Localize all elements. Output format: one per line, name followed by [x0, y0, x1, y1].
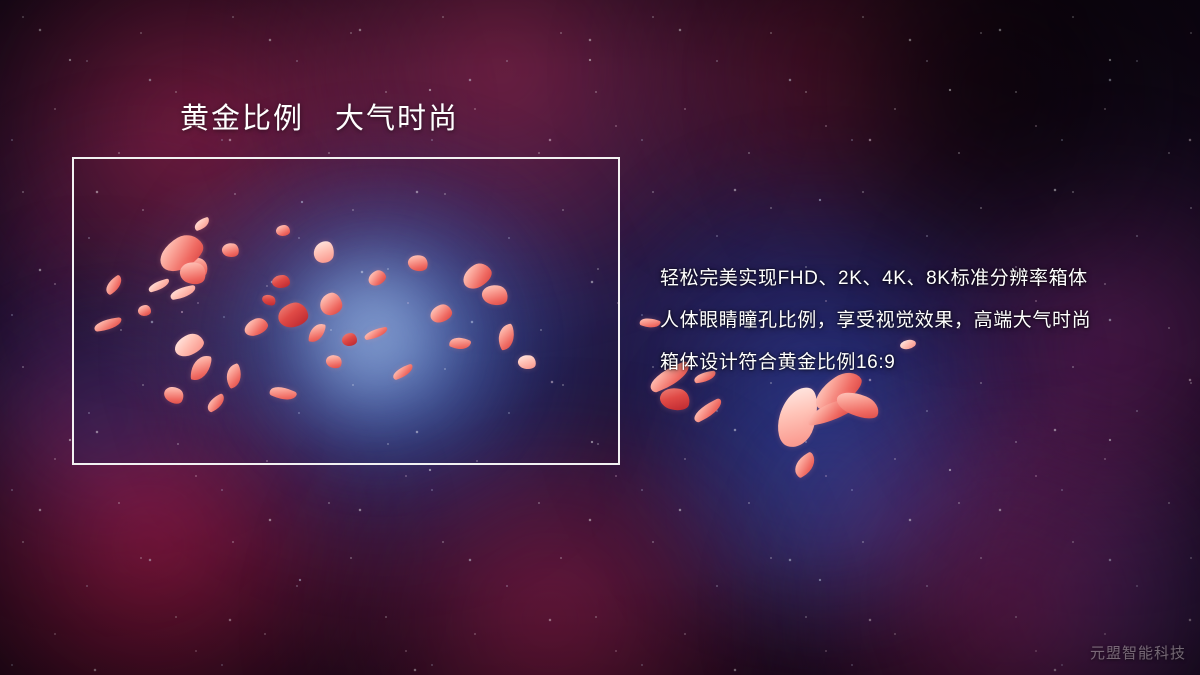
- body-text-line-3: 箱体设计符合黄金比例16:9: [660, 342, 1091, 384]
- body-text-line-1: 轻松完美实现FHD、2K、4K、8K标准分辨率箱体: [660, 258, 1091, 300]
- body-text-block: 轻松完美实现FHD、2K、4K、8K标准分辨率箱体 人体眼睛瞳孔比例，享受视觉效…: [660, 258, 1091, 384]
- watermark: 元盟智能科技: [1090, 642, 1186, 663]
- presentation-slide: 黄金比例 大气时尚 轻松完美实现FHD、2K、4K、8K标准分辨率箱体 人体眼睛…: [0, 0, 1200, 675]
- page-title: 黄金比例 大气时尚: [180, 102, 459, 136]
- image-frame[interactable]: [72, 157, 620, 465]
- body-text-line-2: 人体眼睛瞳孔比例，享受视觉效果，高端大气时尚: [660, 300, 1091, 342]
- image-frame-content: [74, 159, 618, 463]
- petal: [342, 333, 357, 346]
- petal: [272, 275, 290, 288]
- petal: [138, 305, 151, 316]
- petal: [276, 225, 290, 236]
